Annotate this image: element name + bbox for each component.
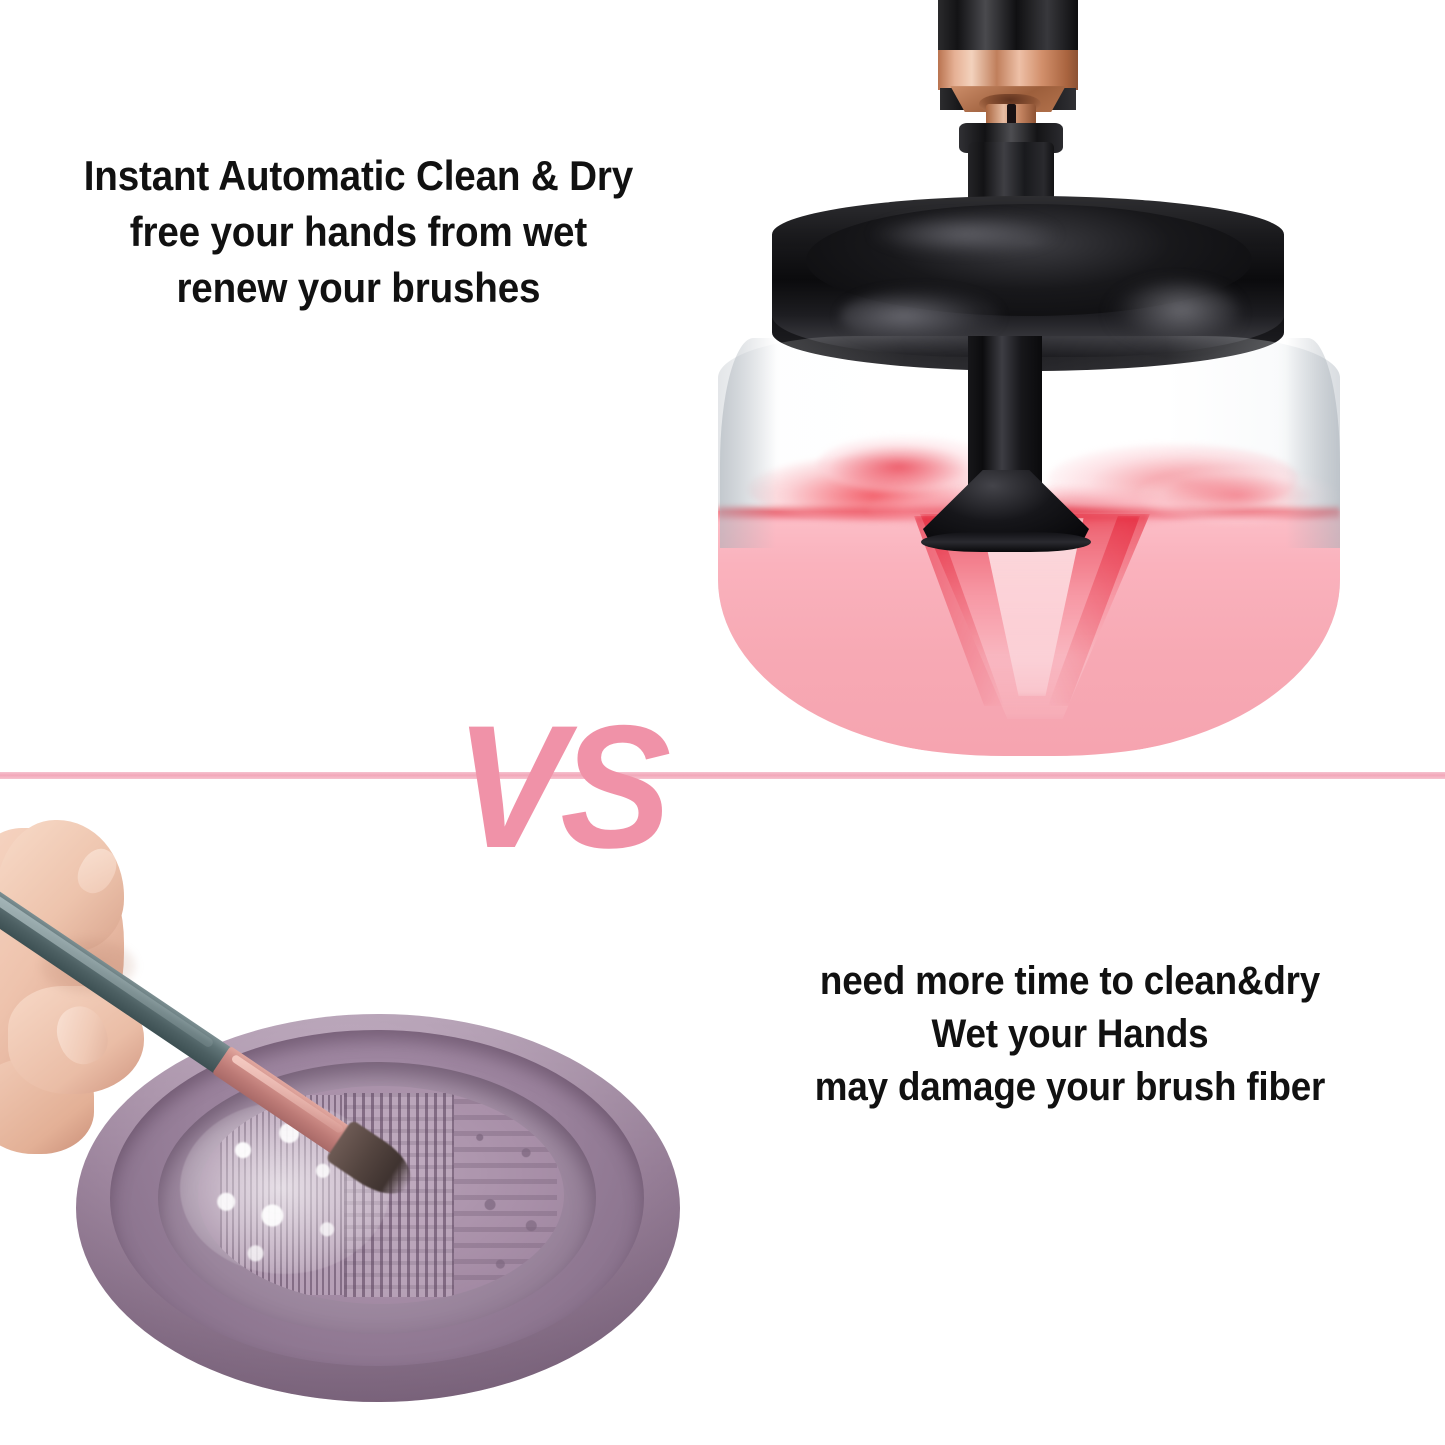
top-headline: Instant Automatic Clean & Dry free your … [18,148,699,316]
spinner-shaft [968,336,1042,491]
lid-inner-highlight [870,214,1060,254]
pad-dot-texture [454,1099,556,1291]
product-comparison-image: Instant Automatic Clean & Dry free your … [0,0,1445,1445]
electric-brush-cleaner-illustration [690,0,1370,767]
handle-body [938,0,1078,54]
divider-line [0,772,1445,779]
bottom-headline: need more time to clean&dry Wet your Han… [730,955,1411,1115]
rose-gold-collar [938,50,1078,90]
spinner-foot [921,532,1091,552]
vs-label: VS [455,700,665,875]
